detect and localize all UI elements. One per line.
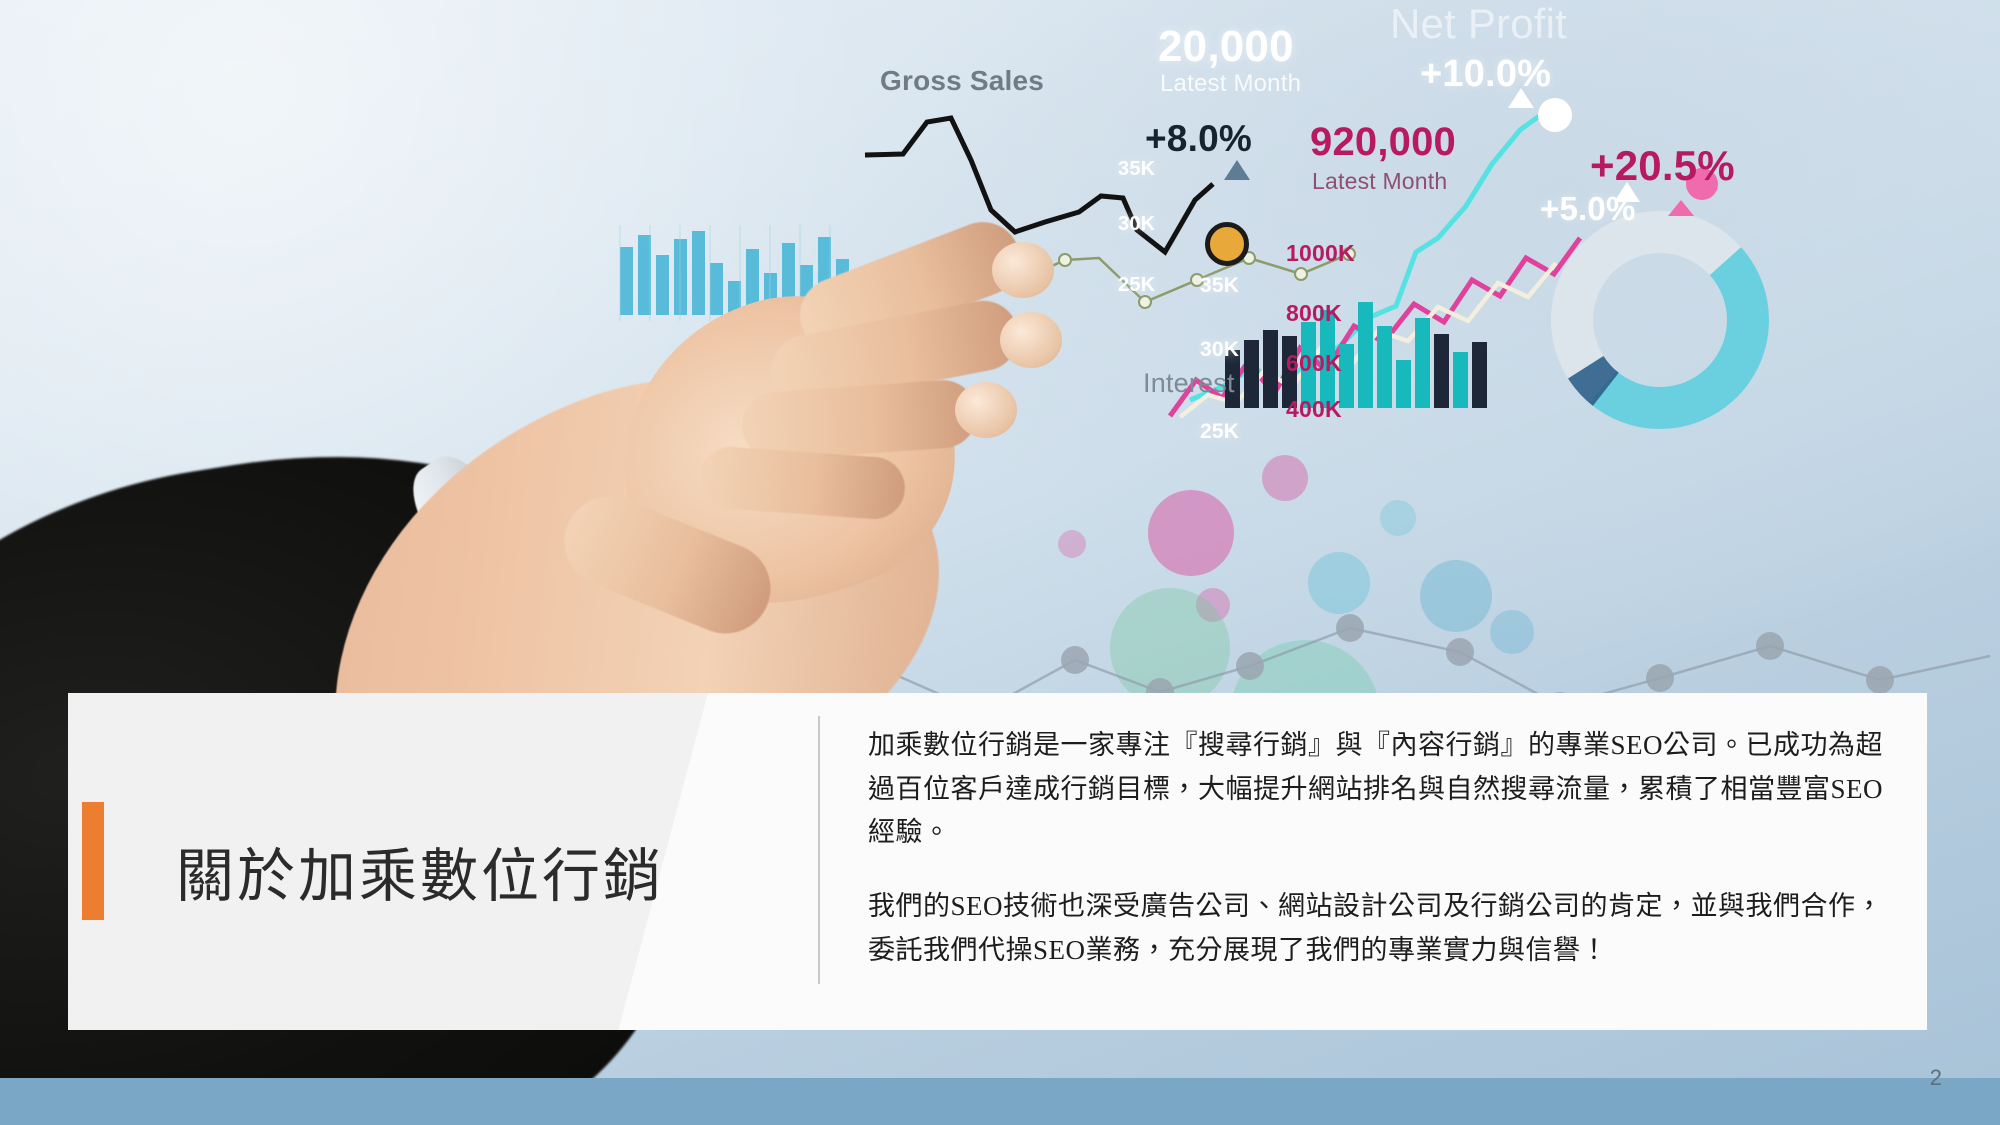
axis-tick-mid-35k: 35K: [1200, 274, 1239, 298]
up-arrow-icon: [1668, 200, 1694, 216]
axis-tick-left-25k: 25K: [1118, 274, 1155, 297]
body-paragraph-2: 我們的SEO技術也深受廣告公司、網站設計公司及行銷公司的肯定，並與我們合作，委託…: [868, 885, 1898, 972]
fingertip: [1000, 312, 1062, 368]
body-text-column: 加乘數位行銷是一家專注『搜尋行銷』與『內容行銷』的專業SEO公司。已成功為超過百…: [868, 724, 1898, 973]
title-accent-bar: [82, 802, 104, 920]
body-paragraph-1: 加乘數位行銷是一家專注『搜尋行銷』與『內容行銷』的專業SEO公司。已成功為超過百…: [868, 724, 1898, 855]
label-growth-205: +20.5%: [1590, 142, 1735, 190]
axis-tick-1000k: 1000K: [1286, 240, 1355, 267]
highlight-marker-white: [1538, 98, 1572, 132]
axis-tick-mid-30k: 30K: [1200, 338, 1239, 362]
label-latest-20000: 20,000: [1158, 22, 1294, 72]
label-latest-month-white: Latest Month: [1160, 70, 1301, 98]
bokeh-bubble: [1262, 455, 1308, 501]
dual-bar-chart: [1225, 300, 1515, 410]
label-growth-8: +8.0%: [1145, 118, 1252, 160]
axis-tick-600k: 600K: [1286, 350, 1342, 377]
up-arrow-icon: [1614, 182, 1640, 202]
page-number: 2: [1930, 1065, 1942, 1091]
axis-tick-400k: 400K: [1286, 396, 1342, 423]
bokeh-bubble: [1380, 500, 1416, 536]
slide-root: Gross Sales 20,000 Latest Month +8.0% Ne…: [0, 0, 2000, 1125]
axis-tick-left-35k: 35K: [1118, 158, 1155, 181]
label-gross-sales: Gross Sales: [880, 65, 1044, 97]
vertical-divider: [818, 716, 820, 984]
page-title: 關於加乘數位行銷: [176, 844, 664, 911]
bokeh-bubble: [1058, 530, 1086, 558]
axis-tick-left-30k: 30K: [1118, 213, 1155, 236]
axis-tick-800k: 800K: [1286, 300, 1342, 327]
label-interest: Interest: [1143, 368, 1235, 399]
axis-tick-mid-25k: 25K: [1200, 420, 1239, 444]
up-arrow-icon: [1508, 88, 1534, 108]
up-arrow-icon: [1224, 160, 1250, 180]
label-net-profit: Net Profit: [1390, 0, 1567, 48]
donut-chart: [1548, 208, 1773, 433]
fingertip: [955, 382, 1017, 438]
label-latest-month-pink: Latest Month: [1312, 168, 1447, 195]
label-latest-920000: 920,000: [1310, 120, 1456, 165]
fingertip: [992, 242, 1054, 298]
